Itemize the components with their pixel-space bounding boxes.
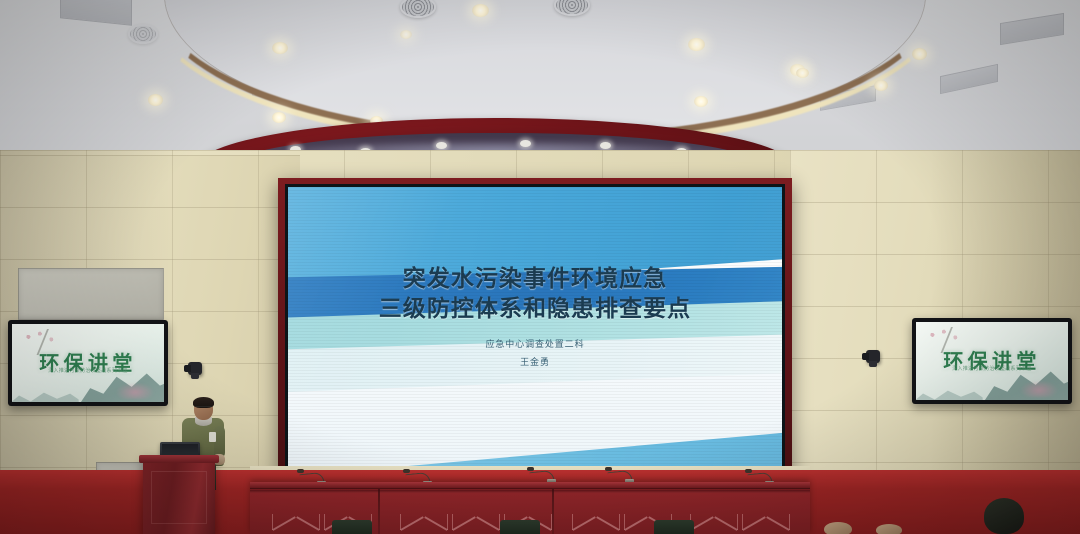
ink-mountain-far [916, 381, 983, 400]
conference-table [250, 482, 810, 534]
audience-head [824, 522, 852, 534]
slide-subtitle: 应急中心调查处置二科 王金勇 [288, 335, 782, 371]
slide-title: 突发水污染事件环境应急 三级防控体系和隐患排查要点 [288, 263, 782, 324]
side-monitor-right-subtitle: 深入推进污染防治攻坚战系列讲座 [916, 365, 1068, 372]
table-reveal [250, 490, 810, 493]
table-top-edge [250, 482, 810, 489]
lectern-front-panel [151, 471, 207, 524]
camera-icon [188, 362, 202, 375]
conference-hall-scene: 环保讲堂 深入推进污染防治攻坚战系列讲座 环保讲堂 深入推进污染防治攻坚战系列讲… [0, 0, 1080, 534]
blossom-icon [1019, 380, 1059, 397]
audience-head [876, 524, 902, 534]
valance-light [600, 142, 611, 149]
camera-icon [866, 350, 880, 363]
microphone-icon [530, 468, 556, 482]
downlight [148, 94, 163, 106]
slide-subtitle-department: 应急中心调查处置二科 [288, 335, 782, 353]
downlight [472, 4, 489, 17]
downlight [272, 112, 286, 123]
main-led-screen-bezel: 突发水污染事件环境应急 三级防控体系和隐患排查要点 应急中心调查处置二科 王金勇 [285, 184, 785, 470]
side-monitor-left: 环保讲堂 深入推进污染防治攻坚战系列讲座 [8, 320, 168, 406]
slide-title-line1: 突发水污染事件环境应急 [288, 263, 782, 293]
downlight [272, 42, 288, 54]
laptop-screen [162, 444, 198, 455]
valance-light [520, 140, 531, 147]
lectern-top [139, 455, 219, 463]
blossom-icon [115, 382, 155, 399]
chair [332, 520, 372, 534]
microphone-icon [608, 468, 634, 482]
side-monitor-right: 环保讲堂 深入推进污染防治攻坚战系列讲座 [912, 318, 1072, 404]
chair [500, 520, 540, 534]
side-monitor-left-screen: 环保讲堂 深入推进污染防治攻坚战系列讲座 [12, 324, 164, 402]
downlight [688, 38, 705, 51]
presentation-slide: 突发水污染事件环境应急 三级防控体系和隐患排查要点 应急中心调查处置二科 王金勇 [288, 187, 782, 467]
side-monitor-right-screen: 环保讲堂 深入推进污染防治攻坚战系列讲座 [916, 322, 1068, 400]
chair [654, 520, 694, 534]
downlight [912, 48, 927, 60]
ink-mountain-far [12, 383, 79, 402]
downlight [796, 68, 809, 78]
downlight [694, 96, 708, 107]
downlight [874, 80, 888, 91]
main-led-screen-frame: 突发水污染事件环境应急 三级防控体系和隐患排查要点 应急中心调查处置二科 王金勇 [278, 178, 792, 476]
downlight [400, 30, 412, 39]
lectern [143, 455, 215, 534]
slide-bottom-wedge [397, 422, 782, 467]
glasses-icon [195, 406, 212, 410]
slide-subtitle-presenter: 王金勇 [288, 353, 782, 371]
valance-light [436, 142, 447, 149]
slide-title-line2: 三级防控体系和隐患排查要点 [288, 293, 782, 323]
audience-head [984, 498, 1024, 534]
air-vent-icon [128, 24, 158, 44]
side-monitor-left-subtitle: 深入推进污染防治攻坚战系列讲座 [12, 367, 164, 374]
presenter-badge [209, 432, 216, 442]
acoustic-panel [18, 268, 164, 320]
